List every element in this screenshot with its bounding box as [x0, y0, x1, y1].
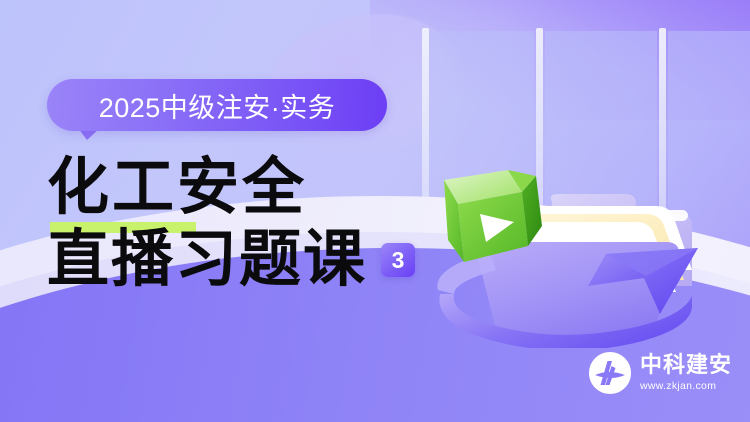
headline-block: 化工安全 直播习题课 3 — [47, 152, 467, 296]
title-line-1-text: 化工安全 — [47, 154, 307, 222]
episode-number-badge: 3 — [381, 243, 415, 277]
brand-name: 中科建安 — [640, 354, 732, 376]
title-line-2: 直播习题课 3 — [47, 224, 467, 296]
brand-logo-text: 中科建安 www.zkjan.com — [640, 354, 732, 392]
title-line-1: 化工安全 — [47, 152, 467, 224]
course-tag-label: 2025中级注安·实务 — [99, 86, 336, 125]
folder-illustration — [430, 118, 740, 348]
brand-logo[interactable]: 中科建安 www.zkjan.com — [589, 352, 732, 394]
brand-url: www.zkjan.com — [640, 381, 732, 392]
course-promo-banner: 2025中级注安·实务 化工安全 直播习题课 3 中科建安 www.zkjan.… — [0, 0, 750, 422]
title-line-2-text: 直播习题课 — [47, 224, 367, 296]
circle-monogram-icon — [589, 352, 631, 394]
course-tag-pill: 2025中级注安·实务 — [47, 79, 387, 131]
